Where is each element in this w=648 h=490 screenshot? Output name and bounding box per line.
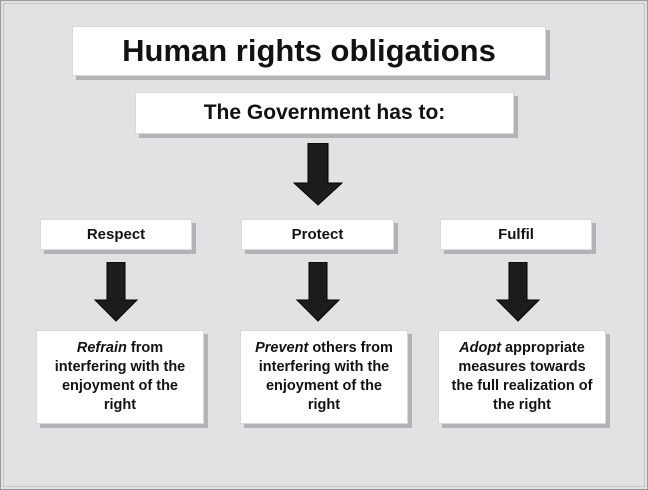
branch-content-text: Adopt appropriate measures towards the f… — [447, 339, 597, 416]
branch-content-respect: Refrain from interfering with the enjoym… — [36, 330, 204, 424]
branch-content-protect: Prevent others from interfering with the… — [240, 330, 408, 424]
diagram-title-box: Human rights obligations — [72, 26, 546, 76]
branch-label-text: Protect — [292, 226, 344, 243]
down-arrow-icon-protect — [296, 262, 340, 322]
diagram-subtitle-box: The Government has to: — [135, 92, 514, 134]
down-arrow-icon-main — [293, 143, 343, 206]
diagram-canvas: Human rights obligations The Government … — [0, 0, 648, 490]
branch-content-text: Refrain from interfering with the enjoym… — [45, 339, 195, 416]
branch-content-fulfil: Adopt appropriate measures towards the f… — [438, 330, 606, 424]
branch-content-text: Prevent others from interfering with the… — [249, 339, 399, 416]
diagram-title-text: Human rights obligations — [122, 33, 496, 69]
branch-label-text: Respect — [87, 226, 145, 243]
branch-label-respect: Respect — [40, 219, 192, 250]
diagram-subtitle-text: The Government has to: — [204, 101, 446, 125]
branch-label-text: Fulfil — [498, 226, 534, 243]
down-arrow-icon-respect — [94, 262, 138, 322]
branch-content-lead: Refrain — [77, 340, 127, 356]
branch-content-lead: Adopt — [459, 340, 501, 356]
down-arrow-icon-fulfil — [496, 262, 540, 322]
branch-content-lead: Prevent — [255, 340, 308, 356]
branch-label-fulfil: Fulfil — [440, 219, 592, 250]
branch-label-protect: Protect — [241, 219, 394, 250]
